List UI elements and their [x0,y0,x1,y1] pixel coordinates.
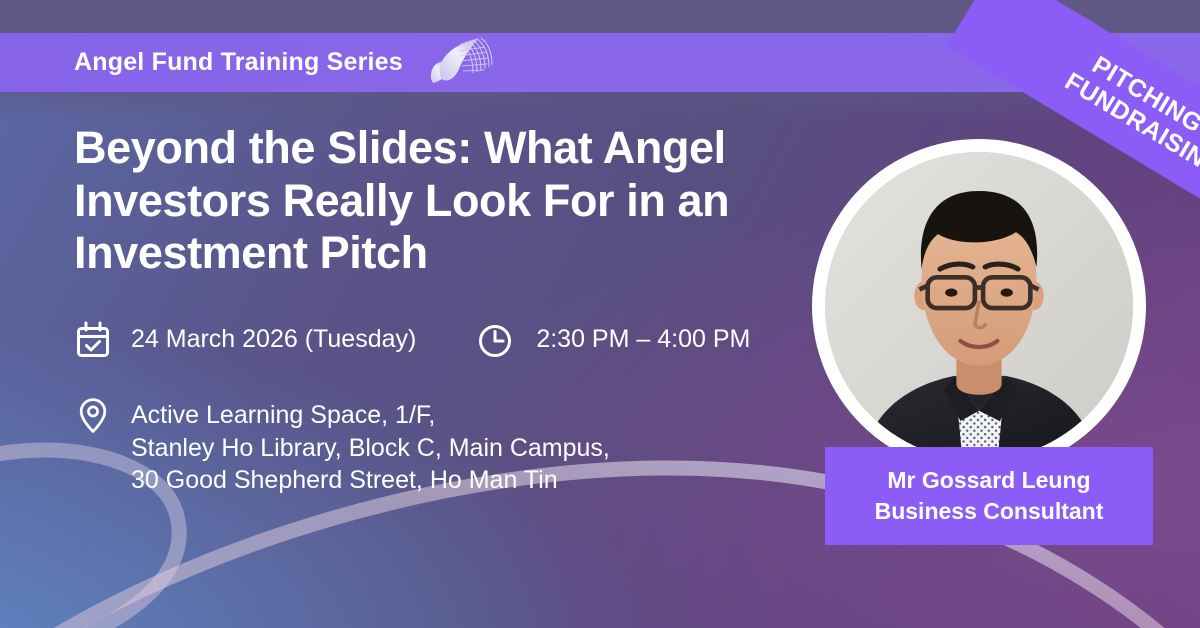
headline-line-3: Investment Pitch [74,227,834,280]
speaker-nameplate: Mr Gossard Leung Business Consultant [825,447,1153,545]
speaker-portrait-frame [812,139,1146,473]
event-location: Active Learning Space, 1/F, Stanley Ho L… [74,396,610,497]
address-line-2: Stanley Ho Library, Block C, Main Campus… [131,432,610,465]
headline-line-1: Beyond the Slides: What Angel [74,122,834,175]
event-headline: Beyond the Slides: What Angel Investors … [74,122,834,280]
address-line-1: Active Learning Space, 1/F, [131,399,610,432]
clock-icon [476,320,514,360]
angel-wing-logo-icon [421,35,495,91]
event-date-text: 24 March 2026 (Tuesday) [131,320,416,356]
event-date: 24 March 2026 (Tuesday) [74,320,416,360]
location-row: Active Learning Space, 1/F, Stanley Ho L… [74,396,610,497]
headline-line-2: Investors Really Look For in an [74,175,834,228]
datetime-row: 24 March 2026 (Tuesday) 2:30 PM – 4:00 P… [74,320,750,360]
event-location-text: Active Learning Space, 1/F, Stanley Ho L… [131,396,610,497]
calendar-check-icon [74,320,112,360]
event-poster: Angel Fund Training Series [0,0,1200,628]
map-pin-icon [74,396,112,436]
event-time: 2:30 PM – 4:00 PM [476,320,750,360]
speaker-role: Business Consultant [875,497,1104,526]
event-time-text: 2:30 PM – 4:00 PM [536,320,750,356]
speaker-name: Mr Gossard Leung [887,466,1090,495]
address-line-3: 30 Good Shepherd Street, Ho Man Tin [131,464,610,497]
speaker-photo [825,152,1133,460]
series-title: Angel Fund Training Series [74,48,403,77]
